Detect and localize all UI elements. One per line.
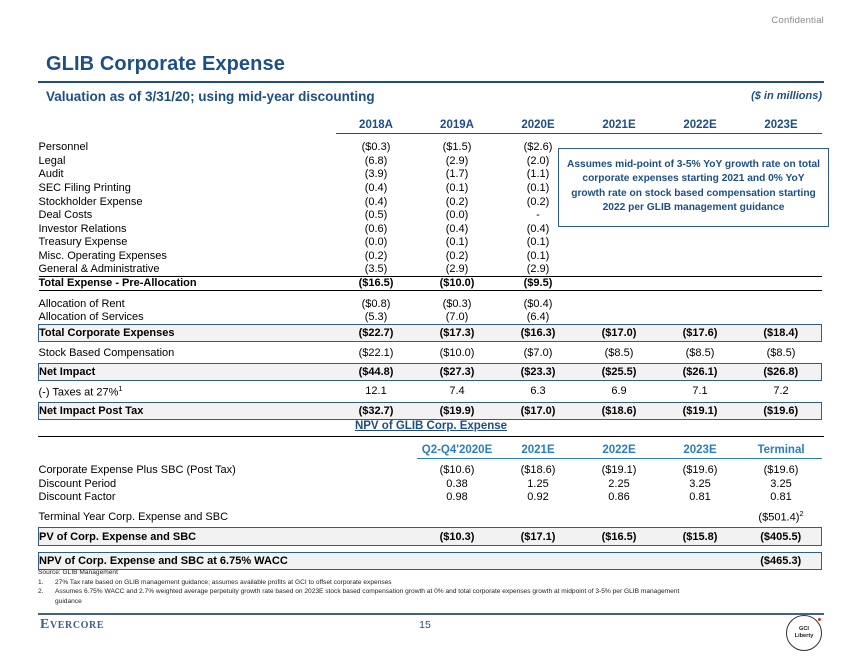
row-label-misc-operating-expenses: Misc. Operating Expenses bbox=[39, 249, 336, 263]
row-gap bbox=[39, 290, 822, 297]
cell: ($16.5) bbox=[336, 276, 417, 290]
row-label-total-expense-pre-allocation: Total Expense - Pre-Allocation bbox=[39, 276, 336, 290]
cell: ($27.3) bbox=[417, 363, 498, 381]
row-gap bbox=[39, 545, 822, 552]
row-label-net-impact-post-tax: Net Impact Post Tax bbox=[39, 402, 336, 420]
cell: (0.2) bbox=[417, 249, 498, 263]
cell: (6.4) bbox=[498, 311, 579, 325]
logo-line-2: Liberty bbox=[795, 633, 814, 640]
cell bbox=[579, 249, 660, 263]
footer-divider bbox=[38, 613, 824, 615]
cell bbox=[741, 297, 822, 311]
total-expense-pre-allocation-row: Total Expense - Pre-Allocation ($16.5) (… bbox=[39, 276, 822, 290]
row-label-taxes: (-) Taxes at 27%1 bbox=[39, 384, 336, 399]
cell bbox=[741, 311, 822, 325]
npv-col-header-2022e: 2022E bbox=[579, 438, 660, 459]
cell: 0.86 bbox=[579, 491, 660, 505]
cell bbox=[660, 249, 741, 263]
table-row: Allocation of Services (5.3) (7.0) (6.4) bbox=[39, 311, 822, 325]
cell: 0.81 bbox=[741, 491, 822, 505]
stock-based-compensation-row: Stock Based Compensation ($22.1) ($10.0)… bbox=[39, 346, 822, 360]
col-header-2021e: 2021E bbox=[579, 112, 660, 134]
slide: Confidential GLIB Corporate Expense Valu… bbox=[0, 0, 850, 660]
gci-liberty-logo: GCI Liberty bbox=[786, 615, 822, 651]
cell: 12.1 bbox=[336, 384, 417, 399]
cell: 0.81 bbox=[660, 491, 741, 505]
pv-of-corp-expense-row: PV of Corp. Expense and SBC ($10.3) ($17… bbox=[39, 528, 822, 546]
cell: ($23.3) bbox=[498, 363, 579, 381]
cell bbox=[660, 276, 741, 290]
cell: ($0.3) bbox=[336, 141, 417, 155]
cell: 7.1 bbox=[660, 384, 741, 399]
cell: ($10.6) bbox=[417, 464, 498, 478]
cell: ($7.0) bbox=[498, 346, 579, 360]
cell: (0.1) bbox=[417, 236, 498, 250]
cell: 6.9 bbox=[579, 384, 660, 399]
footnote-1: 1. 27% Tax rate based on GLIB management… bbox=[38, 578, 679, 588]
cell: (0.1) bbox=[498, 249, 579, 263]
cell-npv-value: ($465.3) bbox=[741, 552, 822, 570]
cell: ($17.1) bbox=[498, 528, 579, 546]
cell: ($0.3) bbox=[417, 297, 498, 311]
cell: ($18.6) bbox=[498, 464, 579, 478]
cell: ($0.4) bbox=[498, 297, 579, 311]
row-gap bbox=[39, 134, 822, 141]
cell: ($18.6) bbox=[579, 402, 660, 420]
row-label-legal: Legal bbox=[39, 154, 336, 168]
cell: ($19.1) bbox=[579, 464, 660, 478]
row-label-sec-filing-printing: SEC Filing Printing bbox=[39, 181, 336, 195]
cell: (0.2) bbox=[336, 249, 417, 263]
cell: (0.1) bbox=[417, 181, 498, 195]
cell bbox=[741, 236, 822, 250]
col-header-2019a: 2019A bbox=[417, 112, 498, 134]
cell bbox=[579, 263, 660, 277]
table-row: Allocation of Rent ($0.8) ($0.3) ($0.4) bbox=[39, 297, 822, 311]
cell: ($10.3) bbox=[417, 528, 498, 546]
row-label-deal-costs: Deal Costs bbox=[39, 208, 336, 222]
terminal-year-row: Terminal Year Corp. Expense and SBC ($50… bbox=[39, 509, 822, 524]
cell: (7.0) bbox=[417, 311, 498, 325]
cell: ($10.0) bbox=[417, 276, 498, 290]
table-row: Corporate Expense Plus SBC (Post Tax) ($… bbox=[39, 464, 822, 478]
table-row: Treasury Expense (0.0) (0.1) (0.1) bbox=[39, 236, 822, 250]
footnote-1-number: 1. bbox=[38, 578, 55, 588]
cell bbox=[498, 509, 579, 524]
cell: ($9.5) bbox=[498, 276, 579, 290]
cell: ($25.5) bbox=[579, 363, 660, 381]
cell: ($17.0) bbox=[498, 402, 579, 420]
cell: 0.98 bbox=[417, 491, 498, 505]
footnotes-block: Source: GLIB Management 1. 27% Tax rate … bbox=[38, 568, 679, 606]
cell bbox=[741, 263, 822, 277]
terminal-year-amount: ($501.4) bbox=[758, 512, 799, 524]
cell: (3.5) bbox=[336, 263, 417, 277]
table-header-row: 2018A 2019A 2020E 2021E 2022E 2023E bbox=[39, 112, 822, 134]
cell: ($17.0) bbox=[579, 324, 660, 342]
npv-col-header-terminal: Terminal bbox=[741, 438, 822, 459]
table-row: Misc. Operating Expenses (0.2) (0.2) (0.… bbox=[39, 249, 822, 263]
cell: ($16.5) bbox=[579, 528, 660, 546]
cell: ($17.6) bbox=[660, 324, 741, 342]
cell: (1.7) bbox=[417, 168, 498, 182]
cell bbox=[417, 509, 498, 524]
row-label-discount-factor: Discount Factor bbox=[39, 491, 417, 505]
col-header-2023e: 2023E bbox=[741, 112, 822, 134]
npv-section-title: NPV of GLIB Corp. Expense bbox=[38, 420, 824, 432]
footnote-2: 2. Assumes 6.75% WACC and 2.7% weighted … bbox=[38, 587, 679, 597]
cell bbox=[660, 297, 741, 311]
row-label-pv-of-corp-expense: PV of Corp. Expense and SBC bbox=[39, 528, 417, 546]
table-row: General & Administrative (3.5) (2.9) (2.… bbox=[39, 263, 822, 277]
cell: 3.25 bbox=[660, 477, 741, 491]
page-subtitle: Valuation as of 3/31/20; using mid-year … bbox=[46, 89, 375, 104]
row-label-net-impact: Net Impact bbox=[39, 363, 336, 381]
row-label-stockholder-expense: Stockholder Expense bbox=[39, 195, 336, 209]
cell: 2.25 bbox=[579, 477, 660, 491]
cell: ($26.1) bbox=[660, 363, 741, 381]
cell: 0.92 bbox=[498, 491, 579, 505]
cell: ($18.4) bbox=[741, 324, 822, 342]
row-label-total-corporate-expenses: Total Corporate Expenses bbox=[39, 324, 336, 342]
source-line: Source: GLIB Management bbox=[38, 568, 679, 578]
npv-col-header-2023e: 2023E bbox=[660, 438, 741, 459]
logo-accent-dot bbox=[818, 618, 821, 621]
cell: ($0.8) bbox=[336, 297, 417, 311]
units-label: ($ in millions) bbox=[751, 90, 822, 102]
npv-header-row: Q2-Q4'2020E 2021E 2022E 2023E Terminal bbox=[39, 438, 822, 459]
cell: (0.1) bbox=[498, 236, 579, 250]
cell: ($26.8) bbox=[741, 363, 822, 381]
header-spacer-2 bbox=[336, 438, 417, 459]
cell: (6.8) bbox=[336, 154, 417, 168]
net-impact-post-tax-row: Net Impact Post Tax ($32.7) ($19.9) ($17… bbox=[39, 402, 822, 420]
row-label-personnel: Personnel bbox=[39, 141, 336, 155]
taxes-row: (-) Taxes at 27%1 12.1 7.4 6.3 6.9 7.1 7… bbox=[39, 384, 822, 399]
row-label-terminal-year: Terminal Year Corp. Expense and SBC bbox=[39, 509, 417, 524]
page-title: GLIB Corporate Expense bbox=[46, 53, 285, 76]
cell: ($22.7) bbox=[336, 324, 417, 342]
cell: ($8.5) bbox=[660, 346, 741, 360]
row-label-corporate-expense-plus-sbc: Corporate Expense Plus SBC (Post Tax) bbox=[39, 464, 417, 478]
cell: (0.0) bbox=[417, 208, 498, 222]
footnote-2-number: 2. bbox=[38, 587, 55, 597]
cell: 7.2 bbox=[741, 384, 822, 399]
cell: ($10.0) bbox=[417, 346, 498, 360]
cell bbox=[579, 297, 660, 311]
row-label-investor-relations: Investor Relations bbox=[39, 222, 336, 236]
header-spacer bbox=[39, 112, 336, 134]
npv-table: Q2-Q4'2020E 2021E 2022E 2023E Terminal C… bbox=[38, 438, 822, 570]
assumptions-callout: Assumes mid-point of 3-5% YoY growth rat… bbox=[558, 148, 829, 227]
cell: (0.4) bbox=[417, 222, 498, 236]
cell: ($17.3) bbox=[417, 324, 498, 342]
cell: ($19.6) bbox=[660, 464, 741, 478]
row-label-audit: Audit bbox=[39, 168, 336, 182]
cell: ($19.6) bbox=[741, 402, 822, 420]
footnote-ref-2: 2 bbox=[799, 509, 803, 518]
col-header-2020e: 2020E bbox=[498, 112, 579, 134]
cell: (2.9) bbox=[498, 263, 579, 277]
table-row: Discount Period 0.38 1.25 2.25 3.25 3.25 bbox=[39, 477, 822, 491]
header-spacer bbox=[39, 438, 336, 459]
cell: ($405.5) bbox=[741, 528, 822, 546]
cell: 6.3 bbox=[498, 384, 579, 399]
cell: (0.2) bbox=[417, 195, 498, 209]
cell: 3.25 bbox=[741, 477, 822, 491]
col-header-2022e: 2022E bbox=[660, 112, 741, 134]
row-label-stock-based-compensation: Stock Based Compensation bbox=[39, 346, 336, 360]
cell: (2.9) bbox=[417, 154, 498, 168]
footnote-ref-1: 1 bbox=[118, 384, 122, 393]
cell: (0.5) bbox=[336, 208, 417, 222]
footnote-2-continued: guidance bbox=[38, 597, 679, 607]
row-label-discount-period: Discount Period bbox=[39, 477, 417, 491]
net-impact-row: Net Impact ($44.8) ($27.3) ($23.3) ($25.… bbox=[39, 363, 822, 381]
cell: (5.3) bbox=[336, 311, 417, 325]
cell: 0.38 bbox=[417, 477, 498, 491]
footnote-2-text: Assumes 6.75% WACC and 2.7% weighted ave… bbox=[55, 587, 679, 597]
cell: (0.4) bbox=[336, 195, 417, 209]
cell: ($32.7) bbox=[336, 402, 417, 420]
cell bbox=[741, 276, 822, 290]
cell: ($44.8) bbox=[336, 363, 417, 381]
npv-col-header-q2q4-2020e: Q2-Q4'2020E bbox=[417, 438, 498, 459]
cell: ($1.5) bbox=[417, 141, 498, 155]
page-number: 15 bbox=[0, 619, 850, 631]
cell bbox=[660, 311, 741, 325]
cell: ($15.8) bbox=[660, 528, 741, 546]
logo-line-1: GCI bbox=[799, 626, 809, 633]
cell bbox=[579, 276, 660, 290]
cell: ($8.5) bbox=[579, 346, 660, 360]
cell bbox=[660, 263, 741, 277]
cell: (2.9) bbox=[417, 263, 498, 277]
cell: (0.0) bbox=[336, 236, 417, 250]
title-divider bbox=[38, 81, 824, 83]
cell: ($16.3) bbox=[498, 324, 579, 342]
confidential-marker: Confidential bbox=[771, 15, 824, 26]
footnote-1-text: 27% Tax rate based on GLIB management gu… bbox=[55, 578, 679, 588]
row-label-treasury-expense: Treasury Expense bbox=[39, 236, 336, 250]
npv-section-divider bbox=[38, 436, 824, 437]
cell: (3.9) bbox=[336, 168, 417, 182]
cell bbox=[660, 509, 741, 524]
cell bbox=[741, 249, 822, 263]
cell: 7.4 bbox=[417, 384, 498, 399]
cell bbox=[579, 509, 660, 524]
row-label-allocation-of-services: Allocation of Services bbox=[39, 311, 336, 325]
cell-terminal-year-value: ($501.4)2 bbox=[741, 509, 822, 524]
cell: ($8.5) bbox=[741, 346, 822, 360]
row-label-general-administrative: General & Administrative bbox=[39, 263, 336, 277]
cell: (0.4) bbox=[336, 181, 417, 195]
col-header-2018a: 2018A bbox=[336, 112, 417, 134]
cell bbox=[579, 236, 660, 250]
cell: ($19.9) bbox=[417, 402, 498, 420]
cell bbox=[660, 236, 741, 250]
cell: (0.6) bbox=[336, 222, 417, 236]
cell: 1.25 bbox=[498, 477, 579, 491]
cell: ($19.1) bbox=[660, 402, 741, 420]
total-corporate-expenses-row: Total Corporate Expenses ($22.7) ($17.3)… bbox=[39, 324, 822, 342]
taxes-label-text: (-) Taxes at 27% bbox=[39, 386, 119, 398]
row-label-allocation-of-rent: Allocation of Rent bbox=[39, 297, 336, 311]
table-row: Discount Factor 0.98 0.92 0.86 0.81 0.81 bbox=[39, 491, 822, 505]
cell: ($22.1) bbox=[336, 346, 417, 360]
cell: ($19.6) bbox=[741, 464, 822, 478]
cell bbox=[579, 311, 660, 325]
npv-col-header-2021e: 2021E bbox=[498, 438, 579, 459]
